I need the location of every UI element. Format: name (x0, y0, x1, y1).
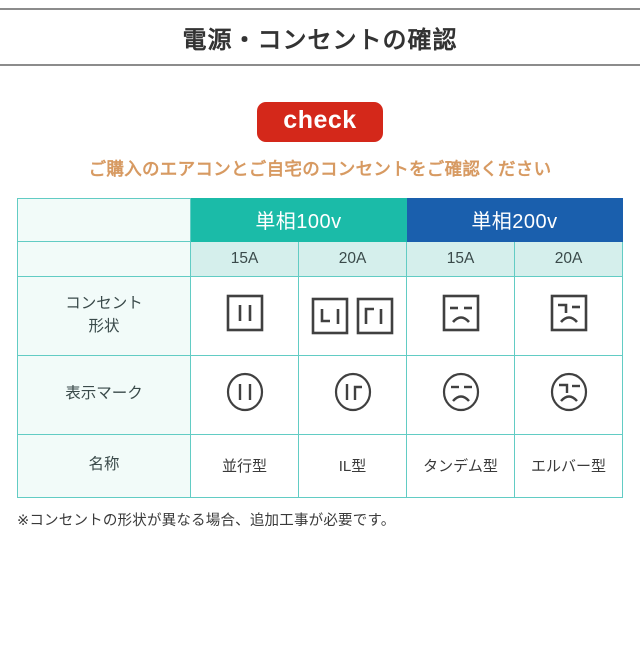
cell-mark-200v-20a (515, 355, 623, 434)
outlet-tandem-square-icon (407, 291, 514, 340)
table-row-name: 名称 並行型 IL型 タンデム型 エルバー型 (18, 434, 623, 497)
cell-name-200v-20a: エルバー型 (515, 434, 623, 497)
cell-mark-100v-20a (299, 355, 407, 434)
outlet-parallel-square-icon (191, 291, 298, 340)
outlet-elbow-square-icon (515, 291, 622, 340)
row-label-name: 名称 (18, 434, 191, 497)
table-row-display-mark: 表示マーク (18, 355, 623, 434)
table-row-outlet-shape: コンセント 形状 (18, 276, 623, 355)
cell-mark-200v-15a (407, 355, 515, 434)
amp-header-200v-15a: 15A (407, 241, 515, 276)
page-title: 電源・コンセントの確認 (183, 20, 458, 55)
check-badge: check (257, 102, 382, 142)
voltage-header-100v: 単相100v (191, 198, 407, 241)
amp-row-blank (18, 241, 191, 276)
outlet-il-square-left-icon (310, 294, 350, 338)
voltage-header-200v: 単相200v (407, 198, 623, 241)
footnote-text: ※コンセントの形状が異なる場合、追加工事が必要です。 (17, 509, 640, 530)
outlet-il-square-pair-icon (299, 294, 406, 338)
cell-mark-100v-15a (191, 355, 299, 434)
mark-elbow-circle-icon (515, 369, 622, 420)
row-label-outlet-shape-line2: 形状 (88, 318, 119, 335)
table-corner-blank (18, 198, 191, 241)
outlet-il-square-right-icon (355, 294, 395, 338)
table-row-amp-header: 15A 20A 15A 20A (18, 241, 623, 276)
outlet-comparison-table: 単相100v 単相200v 15A 20A 15A 20A コンセント 形状 (17, 198, 623, 498)
cell-name-100v-20a: IL型 (299, 434, 407, 497)
amp-header-100v-15a: 15A (191, 241, 299, 276)
cell-name-100v-15a: 並行型 (191, 434, 299, 497)
page-title-bar: 電源・コンセントの確認 (0, 8, 640, 66)
mark-il-circle-icon (299, 369, 406, 420)
row-label-display-mark: 表示マーク (18, 355, 191, 434)
cell-shape-100v-15a (191, 276, 299, 355)
mark-tandem-circle-icon (407, 369, 514, 420)
row-label-outlet-shape: コンセント 形状 (18, 276, 191, 355)
mark-parallel-circle-icon (191, 369, 298, 420)
row-label-outlet-shape-line1: コンセント (65, 295, 143, 312)
outlet-table-wrapper: 単相100v 単相200v 15A 20A 15A 20A コンセント 形状 (17, 198, 623, 498)
amp-header-100v-20a: 20A (299, 241, 407, 276)
cell-shape-200v-15a (407, 276, 515, 355)
check-subtitle: ご購入のエアコンとご自宅のコンセントをご確認ください (89, 156, 552, 181)
table-row-voltage-header: 単相100v 単相200v (18, 198, 623, 241)
cell-shape-200v-20a (515, 276, 623, 355)
amp-header-200v-20a: 20A (515, 241, 623, 276)
check-section: check ご購入のエアコンとご自宅のコンセントをご確認ください (0, 102, 640, 181)
cell-shape-100v-20a (299, 276, 407, 355)
cell-name-200v-15a: タンデム型 (407, 434, 515, 497)
